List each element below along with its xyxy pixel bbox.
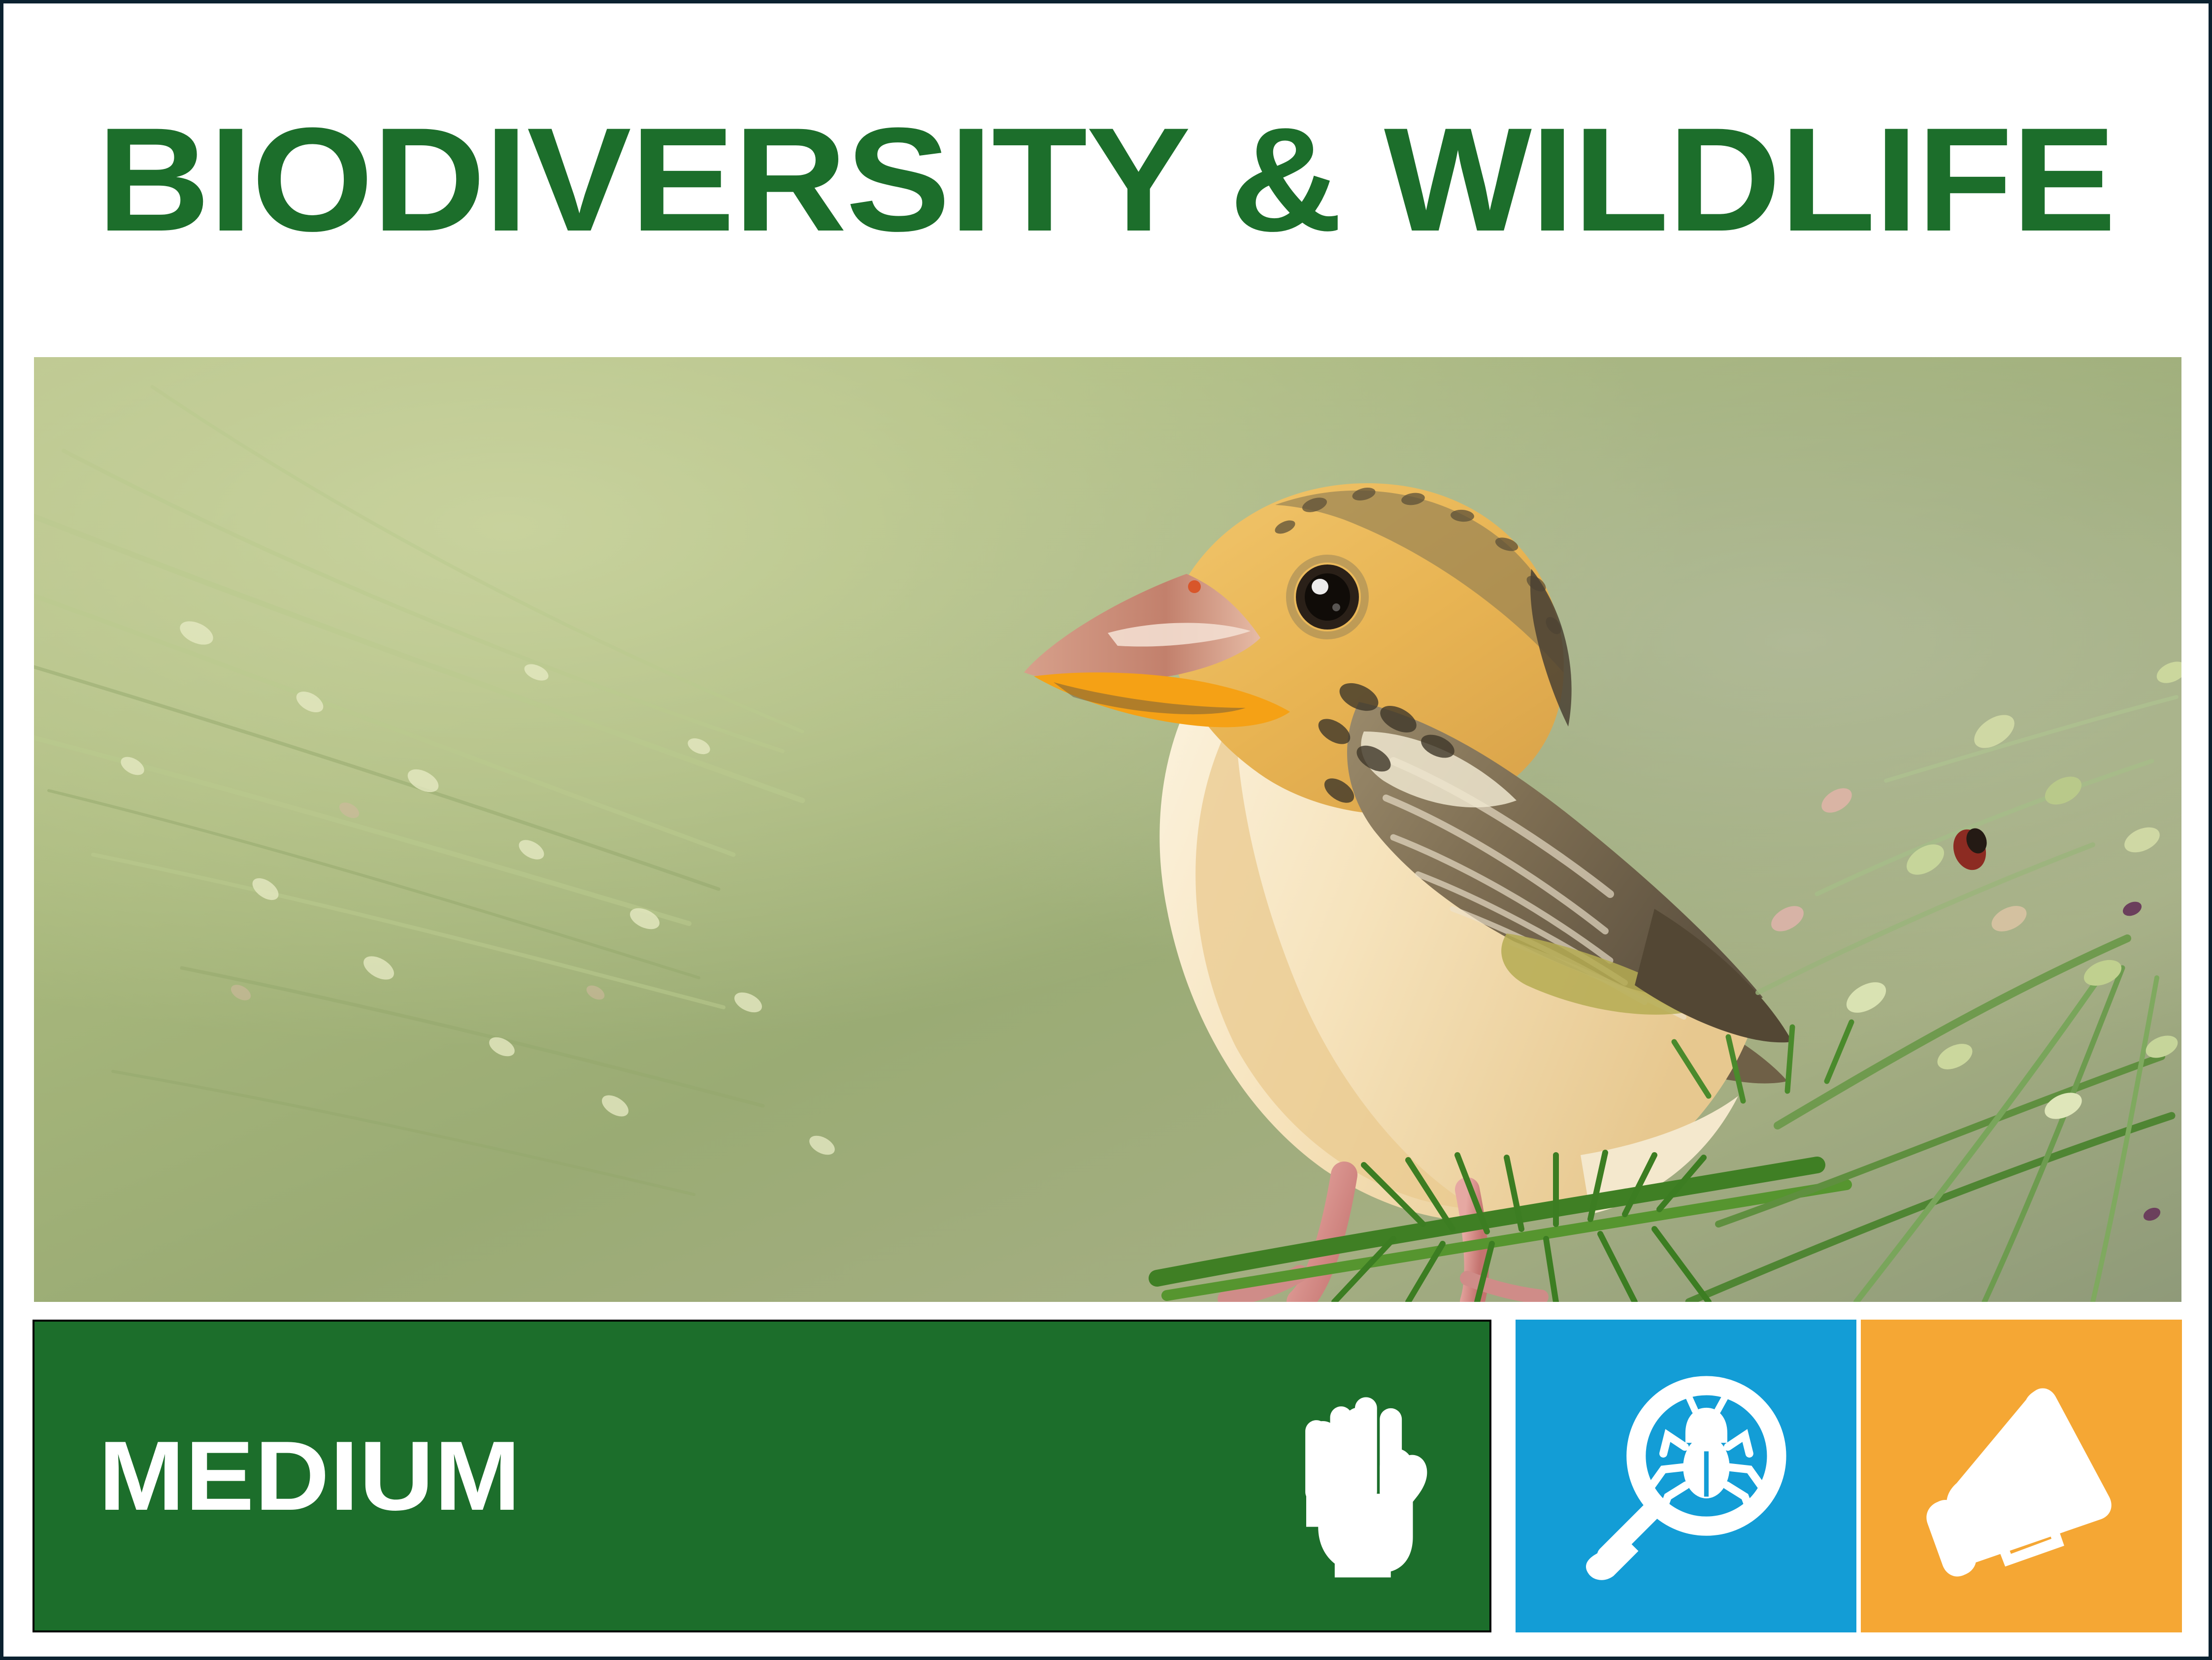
- megaphone-icon: [1906, 1361, 2137, 1592]
- hand-icon-glyph: [1292, 1373, 1430, 1580]
- title-band: BIODIVERSITY & WILDLIFE: [3, 3, 2209, 348]
- biodiversity-wildlife-card: BIODIVERSITY & WILDLIFE: [0, 0, 2212, 1660]
- wildlife-photo-illustration: [34, 357, 2181, 1302]
- research-tile[interactable]: [1516, 1320, 1856, 1632]
- bottom-bar: MEDIUM: [3, 1320, 2209, 1635]
- bug-magnifier-icon: [1573, 1363, 1799, 1590]
- wildlife-photo: [34, 357, 2181, 1302]
- hand-icon: [1258, 1353, 1465, 1599]
- severity-label: MEDIUM: [99, 1427, 521, 1526]
- severity-panel[interactable]: MEDIUM: [33, 1320, 1491, 1632]
- awareness-tile[interactable]: [1861, 1320, 2182, 1632]
- page-title: BIODIVERSITY & WILDLIFE: [97, 99, 2115, 253]
